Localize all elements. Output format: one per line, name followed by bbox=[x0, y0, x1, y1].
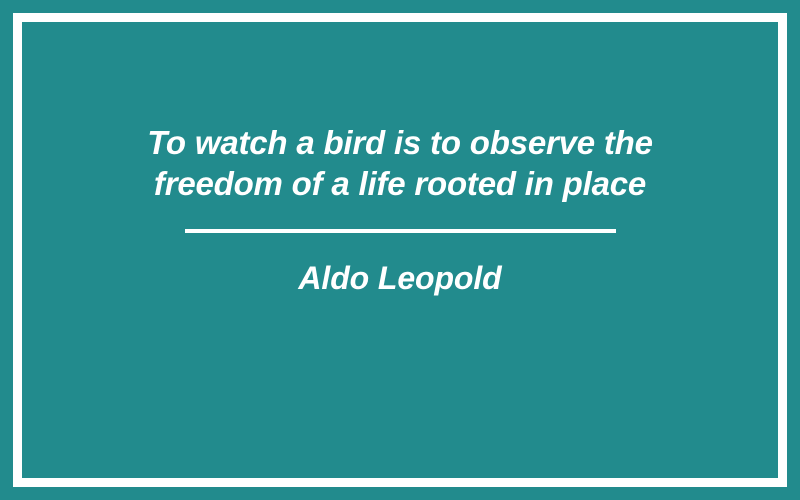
quote-text: To watch a bird is to observe the freedo… bbox=[147, 122, 653, 204]
quote-line-2: freedom of a life rooted in place bbox=[147, 163, 653, 204]
quote-card: To watch a bird is to observe the freedo… bbox=[0, 0, 800, 500]
quote-line-1: To watch a bird is to observe the bbox=[147, 122, 653, 163]
quote-content-area: To watch a bird is to observe the freedo… bbox=[22, 22, 778, 478]
quote-block: To watch a bird is to observe the freedo… bbox=[22, 122, 778, 297]
quote-divider bbox=[185, 229, 616, 233]
quote-author: Aldo Leopold bbox=[298, 259, 501, 297]
